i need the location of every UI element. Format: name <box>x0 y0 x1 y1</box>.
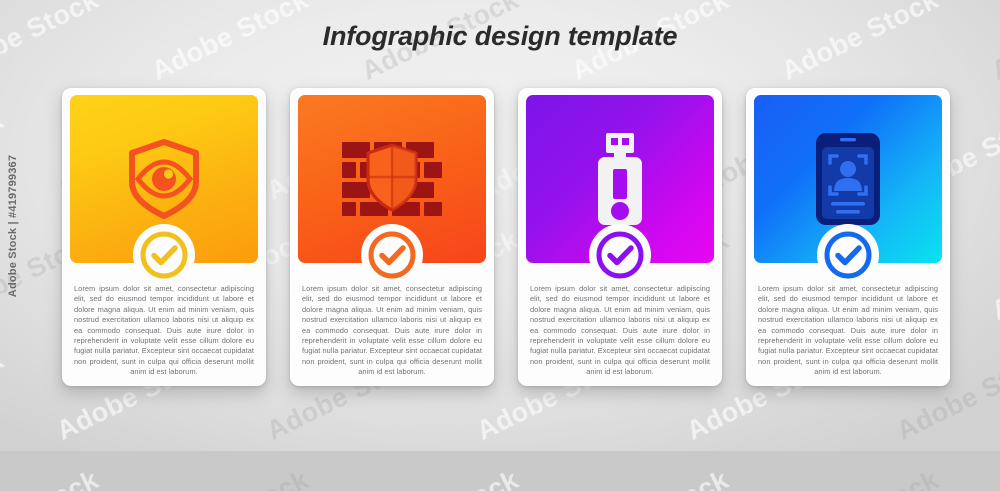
info-card[interactable]: Lorem ipsum dolor sit amet, consectetur … <box>290 88 494 386</box>
card-body-text: Lorem ipsum dolor sit amet, consectetur … <box>74 284 254 378</box>
watermark-text: Adobe Stock <box>987 224 1000 327</box>
watermark-text: Adobe Stock <box>0 464 104 491</box>
info-card[interactable]: Lorem ipsum dolor sit amet, consectetur … <box>518 88 722 386</box>
card-body-text: Lorem ipsum dolor sit amet, consectetur … <box>758 284 938 378</box>
card-panel <box>754 95 942 263</box>
stock-id-text: Adobe Stock | #419799367 <box>7 154 19 296</box>
card-body-text: Lorem ipsum dolor sit amet, consectetur … <box>302 284 482 378</box>
watermark-text: Adobe Stock <box>357 464 524 491</box>
watermark-text: Adobe Stock <box>567 464 734 491</box>
check-badge[interactable] <box>139 230 189 280</box>
stock-id-watermark: Adobe Stock | #419799367 <box>2 0 24 451</box>
info-card[interactable]: Lorem ipsum dolor sit amet, consectetur … <box>62 88 266 386</box>
card-panel <box>298 95 486 263</box>
card-body-text: Lorem ipsum dolor sit amet, consectetur … <box>530 284 710 378</box>
check-badge[interactable] <box>823 230 873 280</box>
check-badge[interactable] <box>367 230 417 280</box>
watermark-text: Adobe Stock <box>147 464 314 491</box>
page-title: Infographic design template <box>0 21 1000 52</box>
canvas-background: Adobe StockAdobe StockAdobe StockAdobe S… <box>0 0 1000 451</box>
watermark-text: Adobe Stock <box>777 464 944 491</box>
watermark-text: Adobe Stock <box>987 464 1000 491</box>
info-card[interactable]: Lorem ipsum dolor sit amet, consectetur … <box>746 88 950 386</box>
check-badge[interactable] <box>595 230 645 280</box>
card-row: Lorem ipsum dolor sit amet, consectetur … <box>62 88 950 388</box>
card-panel <box>526 95 714 263</box>
card-panel <box>70 95 258 263</box>
